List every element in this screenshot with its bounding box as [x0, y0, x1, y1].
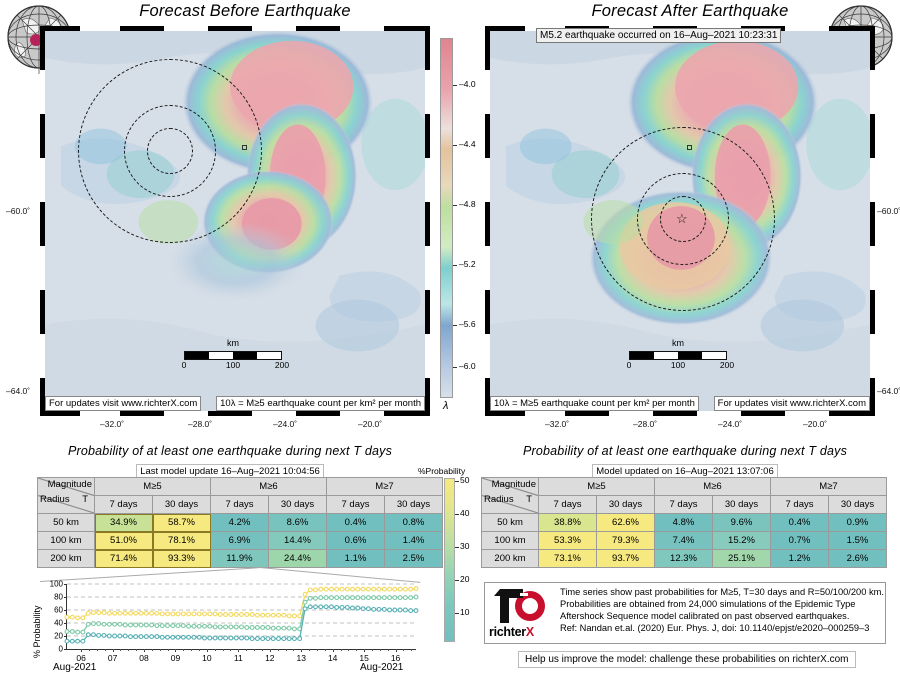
period-header-before-1: 30 days: [153, 496, 211, 514]
updates-note-left: For updates visit www.richterX.com: [45, 396, 201, 411]
period-header-before-4: 7 days: [327, 496, 385, 514]
timeseries-xtick-07: 07: [108, 653, 117, 663]
timeseries-xtick-10: 10: [202, 653, 211, 663]
table-row: 50 km34.9%58.7%4.2%8.6%0.4%0.8%: [38, 514, 443, 532]
corner-radius-label-before: Radius: [40, 494, 70, 505]
prob-cell-after-1-4: 0.7%: [771, 532, 829, 550]
period-header-after-4: 7 days: [771, 496, 829, 514]
magnitude-group-header-after-2: M≥7: [771, 478, 887, 496]
prob-tick-20: 20: [460, 574, 469, 584]
timeseries-end-date: Aug-2021: [360, 662, 403, 673]
left-table-title: Probability of at least one earthquake d…: [30, 444, 430, 458]
scale-tick-1-left: 100: [226, 360, 240, 370]
zoom-leader-right: [260, 567, 420, 583]
scale-tick-2-right: 200: [720, 360, 734, 370]
rate-units-note-right: 10λ = M≥5 earthquake count per km² per m…: [490, 396, 699, 411]
map-after-earthquake[interactable]: ☆ km 0 100 200 10λ = M≥5 earthquake coun…: [485, 26, 875, 416]
lat-label-64-right: –64.0˚: [877, 386, 900, 396]
prob-cell-before-0-2: 4.2%: [211, 514, 269, 532]
prob-cell-after-2-1: 93.7%: [597, 550, 655, 568]
prob-cell-after-2-4: 1.2%: [771, 550, 829, 568]
scale-tick-labels-left: 0 100 200: [184, 360, 282, 371]
credits-line-3: Aftershock Sequence model calibrated on …: [560, 610, 849, 622]
map-frame-right: ☆ km 0 100 200 10λ = M≥5 earthquake coun…: [485, 26, 875, 416]
prob-cell-before-0-3: 8.6%: [269, 514, 327, 532]
prob-tick-50: 50: [460, 475, 469, 485]
scale-tick-0-right: 0: [627, 360, 632, 370]
timeseries-ytick-60: 60: [45, 606, 63, 615]
prob-tick-40: 40: [460, 508, 469, 518]
radius-label-before-2: 200 km: [38, 550, 95, 568]
prob-cell-after-1-1: 79.3%: [597, 532, 655, 550]
prob-cell-after-0-4: 0.4%: [771, 514, 829, 532]
prob-cell-before-2-3: 24.4%: [269, 550, 327, 568]
period-header-before-2: 7 days: [211, 496, 269, 514]
scale-bar-left: km 0 100 200: [184, 338, 282, 371]
corner-t-label-before: T: [82, 494, 88, 505]
radius-label-after-0: 50 km: [482, 514, 539, 532]
epicenter-star-right: ☆: [676, 212, 688, 225]
probability-table-before[interactable]: MagnitudeRadiusTM≥5M≥6M≥77 days30 days7 …: [37, 477, 443, 568]
prob-colorbar-title: %Probability: [418, 466, 465, 476]
rate-tick-4.8: –4.8: [459, 199, 476, 209]
prob-cell-after-1-5: 1.5%: [829, 532, 887, 550]
radius-label-after-2: 200 km: [482, 550, 539, 568]
prob-cell-before-1-4: 0.6%: [327, 532, 385, 550]
period-header-after-3: 30 days: [713, 496, 771, 514]
period-header-after-1: 30 days: [597, 496, 655, 514]
richterx-logo-icon: [492, 585, 558, 627]
rate-tick-5.6: –5.6: [459, 319, 476, 329]
period-header-before-3: 30 days: [269, 496, 327, 514]
rate-tick-5.2: –5.2: [459, 259, 476, 269]
magnitude-group-header-before-2: M≥7: [327, 478, 443, 496]
prob-tick-30: 30: [460, 541, 469, 551]
table-corner-before: MagnitudeRadiusT: [38, 478, 95, 514]
richterx-logo-text: richterX: [489, 625, 534, 639]
magnitude-group-header-before-0: M≥5: [95, 478, 211, 496]
prob-cell-before-0-0: 34.9%: [95, 514, 153, 532]
prob-cell-before-0-1: 58.7%: [153, 514, 211, 532]
prob-cell-before-2-4: 1.1%: [327, 550, 385, 568]
scale-tick-labels-right: 0 100 200: [629, 360, 727, 371]
prob-cell-before-1-0: 51.0%: [95, 532, 153, 550]
prob-cell-before-0-5: 0.8%: [385, 514, 443, 532]
table-row: 200 km71.4%93.3%11.9%24.4%1.1%2.5%: [38, 550, 443, 568]
credits-line-1: Time series show past probabilities for …: [560, 586, 884, 598]
map-before-earthquake[interactable]: km 0 100 200 For updates visit www.richt…: [40, 26, 430, 416]
timeseries-xtick-09: 09: [171, 653, 180, 663]
prob-cell-before-2-0: 71.4%: [95, 550, 153, 568]
lon-label-24-left: –24.0˚: [273, 419, 297, 429]
radius-circle-50km-left: [147, 128, 193, 174]
scale-bar-graphic-right: [629, 351, 727, 360]
magnitude-group-header-after-0: M≥5: [539, 478, 655, 496]
prob-cell-after-0-1: 62.6%: [597, 514, 655, 532]
rate-tick-6.0: –6.0: [459, 361, 476, 371]
credits-line-4: Ref: Nandan et.al. (2020) Eur. Phys. J, …: [560, 622, 869, 634]
lat-label-60-left: –60.0˚: [6, 206, 30, 216]
prob-cell-before-1-2: 6.9%: [211, 532, 269, 550]
table-row: 200 km73.1%93.7%12.3%25.1%1.2%2.6%: [482, 550, 887, 568]
radius-label-before-1: 100 km: [38, 532, 95, 550]
event-marker-left: [242, 145, 247, 150]
lon-label-28-right: –28.0˚: [633, 419, 657, 429]
prob-cell-before-1-3: 14.4%: [269, 532, 327, 550]
corner-magnitude-label-after: Magnitude: [492, 479, 536, 490]
magnitude-group-header-after-1: M≥6: [655, 478, 771, 496]
lat-label-60-right: –60.0˚: [877, 206, 900, 216]
prob-cell-after-1-3: 15.2%: [713, 532, 771, 550]
timeseries-xtick-11: 11: [234, 653, 243, 663]
rate-colorbar-gradient: [440, 38, 453, 398]
prob-cell-after-0-0: 38.8%: [539, 514, 597, 532]
scale-unit-label-left: km: [184, 338, 282, 348]
probability-table-before-grid: MagnitudeRadiusTM≥5M≥6M≥77 days30 days7 …: [37, 477, 443, 568]
rate-colorbar-label: λ: [443, 400, 448, 412]
lat-label-64-left: –64.0˚: [6, 386, 30, 396]
prob-cell-after-0-3: 9.6%: [713, 514, 771, 532]
period-header-before-0: 7 days: [95, 496, 153, 514]
radius-label-after-1: 100 km: [482, 532, 539, 550]
prob-cell-after-1-2: 7.4%: [655, 532, 713, 550]
timeseries-ylabel: % Probability: [32, 605, 42, 658]
rate-units-note-left: 10λ = M≥5 earthquake count per km² per m…: [216, 396, 425, 411]
prob-tick-10: 10: [460, 607, 469, 617]
prob-cell-after-2-2: 12.3%: [655, 550, 713, 568]
scale-tick-2-left: 200: [275, 360, 289, 370]
prob-cell-before-2-2: 11.9%: [211, 550, 269, 568]
event-marker-right: [687, 145, 692, 150]
timeseries-ytick-20: 20: [45, 632, 63, 641]
period-header-before-5: 30 days: [385, 496, 443, 514]
timeseries-ytick-0: 0: [45, 645, 63, 654]
probability-table-after-grid: MagnitudeRadiusTM≥5M≥6M≥77 days30 days7 …: [481, 477, 887, 568]
timeseries-ytick-100: 100: [45, 580, 63, 589]
updates-note-right: For updates visit www.richterX.com: [714, 396, 870, 411]
scale-bar-right: km 0 100 200: [629, 338, 727, 371]
prob-cell-before-0-4: 0.4%: [327, 514, 385, 532]
timeseries-ytick-80: 80: [45, 593, 63, 602]
prob-cell-after-0-5: 0.9%: [829, 514, 887, 532]
map-frame-left: km 0 100 200 For updates visit www.richt…: [40, 26, 430, 416]
help-challenge-link[interactable]: Help us improve the model: challenge the…: [518, 651, 856, 668]
table-corner-after: MagnitudeRadiusT: [482, 478, 539, 514]
prob-cell-before-2-1: 93.3%: [153, 550, 211, 568]
period-header-after-5: 30 days: [829, 496, 887, 514]
period-header-after-0: 7 days: [539, 496, 597, 514]
timeseries-start-date: Aug-2021: [53, 662, 96, 673]
prob-cell-after-1-0: 53.3%: [539, 532, 597, 550]
credits-line-2: Probabilities are obtained from 24,000 s…: [560, 598, 855, 610]
prob-cell-after-2-0: 73.1%: [539, 550, 597, 568]
magnitude-group-header-before-1: M≥6: [211, 478, 327, 496]
timeseries-svg: [67, 584, 416, 649]
timeseries-xtick-12: 12: [265, 653, 274, 663]
forecast-dashboard: Forecast Before Earthquake Forecast Afte…: [0, 0, 900, 676]
period-header-after-2: 7 days: [655, 496, 713, 514]
lon-label-24-right: –24.0˚: [718, 419, 742, 429]
timeseries-xtick-08: 08: [139, 653, 148, 663]
prob-cell-before-1-5: 1.4%: [385, 532, 443, 550]
right-panel-title: Forecast After Earthquake: [505, 2, 875, 21]
lon-label-32-right: –32.0˚: [545, 419, 569, 429]
lon-label-20-right: –20.0˚: [803, 419, 827, 429]
prob-cell-after-2-3: 25.1%: [713, 550, 771, 568]
prob-colorbar: 50 40 30 20 10: [444, 478, 455, 642]
table-row: 100 km53.3%79.3%7.4%15.2%0.7%1.5%: [482, 532, 887, 550]
corner-magnitude-label-before: Magnitude: [48, 479, 92, 490]
probability-time-series[interactable]: % Probability 02040608010006070809101112…: [26, 568, 426, 676]
scale-tick-1-right: 100: [671, 360, 685, 370]
timeseries-plot-area: 0204060801000607080910111213141516: [66, 584, 416, 650]
probability-table-after[interactable]: MagnitudeRadiusTM≥5M≥6M≥77 days30 days7 …: [481, 477, 887, 568]
logo-name-accent: X: [526, 625, 534, 639]
rate-tick-4.0: –4.0: [459, 79, 476, 89]
left-panel-title: Forecast Before Earthquake: [60, 2, 430, 21]
timeseries-xtick-14: 14: [328, 653, 337, 663]
scale-tick-0-left: 0: [182, 360, 187, 370]
lon-label-28-left: –28.0˚: [188, 419, 212, 429]
logo-name-dark: richter: [489, 625, 526, 639]
scale-bar-graphic-left: [184, 351, 282, 360]
lon-label-20-left: –20.0˚: [358, 419, 382, 429]
table-row: 100 km51.0%78.1%6.9%14.4%0.6%1.4%: [38, 532, 443, 550]
prob-cell-before-2-5: 2.5%: [385, 550, 443, 568]
corner-t-label-after: T: [526, 494, 532, 505]
prob-cell-after-2-5: 2.6%: [829, 550, 887, 568]
rate-colorbar: –4.0 –4.4 –4.8 –5.2 –5.6 –6.0: [440, 38, 453, 398]
scale-unit-label-right: km: [629, 338, 727, 348]
timeseries-xtick-13: 13: [297, 653, 306, 663]
earthquake-banner: M5.2 earthquake occurred on 16–Aug–2021 …: [536, 28, 781, 43]
table-row: 50 km38.8%62.6%4.8%9.6%0.4%0.9%: [482, 514, 887, 532]
rate-tick-4.4: –4.4: [459, 139, 476, 149]
prob-cell-after-0-2: 4.8%: [655, 514, 713, 532]
lon-label-32-left: –32.0˚: [100, 419, 124, 429]
prob-cell-before-1-1: 78.1%: [153, 532, 211, 550]
corner-radius-label-after: Radius: [484, 494, 514, 505]
timeseries-ytick-40: 40: [45, 619, 63, 628]
zoom-leader-left: [40, 567, 260, 582]
right-table-title: Probability of at least one earthquake d…: [475, 444, 895, 458]
radius-label-before-0: 50 km: [38, 514, 95, 532]
prob-colorbar-gradient: [444, 478, 455, 642]
